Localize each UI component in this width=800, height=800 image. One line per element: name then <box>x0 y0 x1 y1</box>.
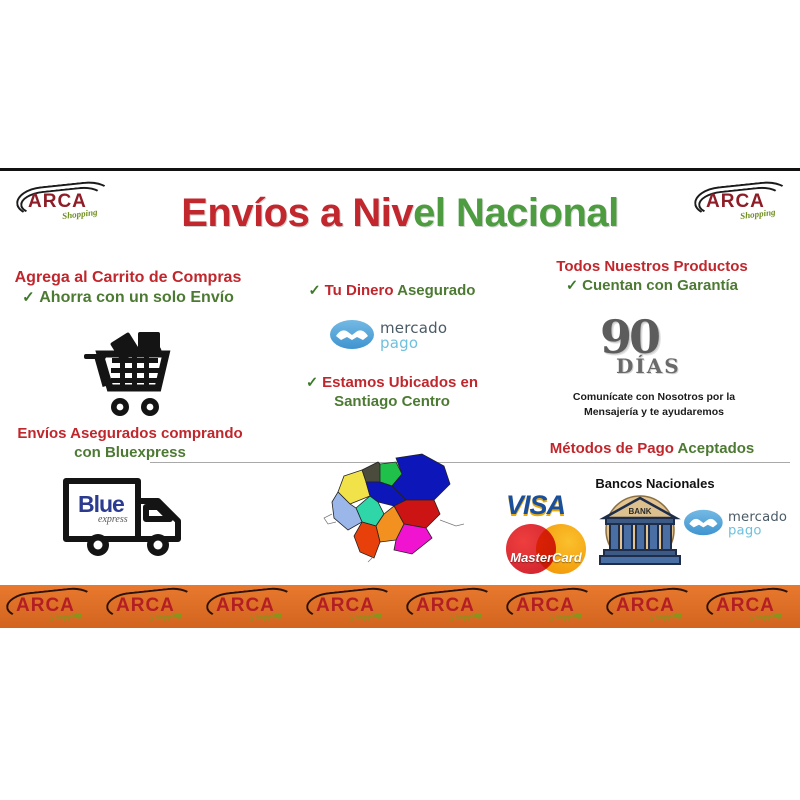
mercadopago-logo-center: mercado pago <box>330 318 460 354</box>
mastercard-yellow-circle-icon <box>536 524 586 574</box>
banner-top-rule <box>0 168 800 171</box>
warranty-note: Comunícate con Nosotros por la Mensajerí… <box>538 390 770 420</box>
mastercard-logo: MasterCard <box>506 524 594 576</box>
feature-shipping-text: Envíos Asegurados comprando con Bluexpre… <box>6 425 254 463</box>
payments-line-green: Aceptados <box>678 440 755 457</box>
feature-payments-text: Métodos de Pago Aceptados <box>528 440 776 459</box>
footer-arca-logo: ARCAShopping <box>706 589 800 625</box>
bank-sign-text: BANK <box>628 507 651 516</box>
bluexpress-truck-icon: Blue express <box>62 475 188 561</box>
footer-arca-logo: ARCAShopping <box>306 589 406 625</box>
footer-arca-logo: ARCAShopping <box>6 589 106 625</box>
footer-arca-logo: ARCAShopping <box>206 589 306 625</box>
payments-line-red: Métodos de Pago <box>550 440 678 457</box>
money-line-green: Asegurado <box>397 282 475 299</box>
santiago-region-map <box>322 444 482 564</box>
mercadopago-word-pago: pago <box>728 522 762 538</box>
location-line-2: Santiago Centro <box>282 393 502 412</box>
bluexpress-sub: express <box>98 514 128 525</box>
money-line-red: Tu Dinero <box>325 282 398 299</box>
feature-location-text: ✓ Estamos Ubicados en Santiago Centro <box>282 374 502 412</box>
shipping-line-2: con Bluexpress <box>6 444 254 463</box>
check-icon: ✓ <box>306 375 318 391</box>
mercadopago-word-pago: pago <box>380 334 418 352</box>
warranty-note-line-2: Mensajería y te ayudaremos <box>538 405 770 420</box>
warranty-note-line-1: Comunícate con Nosotros por la <box>538 390 770 405</box>
shipping-line-1: Envíos Asegurados comprando <box>6 425 254 444</box>
shopping-cart-icon <box>70 328 182 424</box>
cart-line-2: Ahorra con un solo Envío <box>39 289 234 306</box>
footer-arca-logo: ARCAShopping <box>406 589 506 625</box>
warranty-line-1: Todos Nuestros Productos <box>528 258 776 277</box>
handshake-icon <box>335 325 369 345</box>
mercadopago-logo-payments: mercado pago <box>684 508 790 540</box>
footer-brand-strip: ARCAShoppingARCAShoppingARCAShoppingARCA… <box>0 585 800 628</box>
feature-cart-text: Agrega al Carrito de Compras ✓ Ahorra co… <box>4 268 252 308</box>
check-icon: ✓ <box>566 278 578 294</box>
feature-money-text: ✓ Tu Dinero Asegurado <box>282 282 502 301</box>
location-line-1: Estamos Ubicados en <box>322 374 478 391</box>
check-icon: ✓ <box>22 289 35 306</box>
check-icon: ✓ <box>309 283 321 299</box>
bank-icon: BANK <box>598 492 682 570</box>
footer-arca-logo: ARCAShopping <box>106 589 206 625</box>
title-part-red: Envíos a Niv <box>181 191 413 235</box>
banks-label: Bancos Nacionales <box>540 476 770 491</box>
warranty-90-days-badge: 90 DÍAS <box>592 318 702 388</box>
footer-arca-logo: ARCAShopping <box>606 589 706 625</box>
map-province-deep-orange <box>354 522 380 558</box>
visa-logo: VISA <box>506 490 592 516</box>
handshake-icon <box>688 514 718 532</box>
title-part-green: el Nacional <box>413 191 619 235</box>
footer-arca-logo: ARCAShopping <box>506 589 606 625</box>
warranty-line-2: Cuentan con Garantía <box>582 277 738 294</box>
mastercard-wordmark: MasterCard <box>506 550 586 565</box>
cart-line-1: Agrega al Carrito de Compras <box>4 268 252 288</box>
map-province-blue <box>392 454 450 500</box>
feature-warranty-text: Todos Nuestros Productos ✓ Cuentan con G… <box>528 258 776 296</box>
page-title: Envíos a Nivel Nacional <box>0 193 800 233</box>
warranty-unit: DÍAS <box>616 354 681 378</box>
